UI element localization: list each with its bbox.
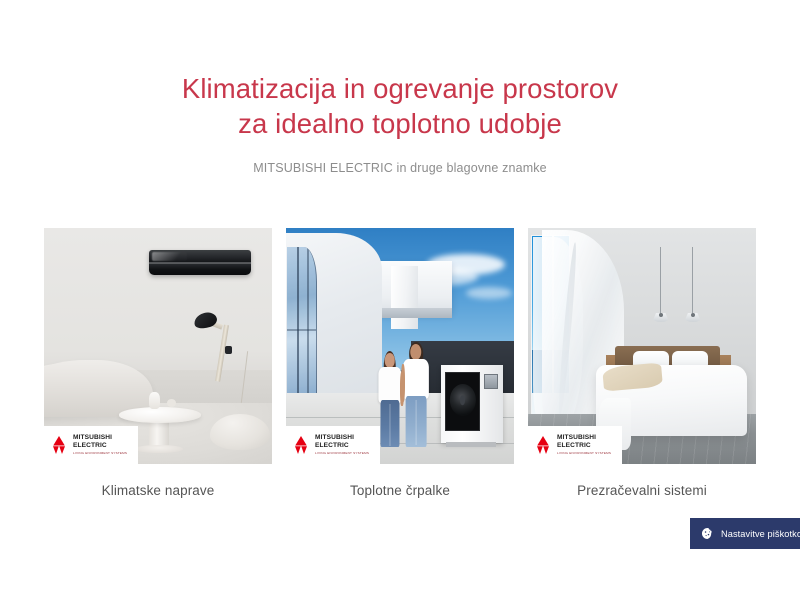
heat-pump-grille bbox=[445, 372, 481, 431]
brand-badge: MITSUBISHI ELECTRIC LIVING ENVIRONMENT S… bbox=[286, 426, 380, 464]
card-image-villa-heatpump[interactable]: MITSUBISHI ELECTRIC LIVING ENVIRONMENT S… bbox=[286, 228, 514, 464]
category-card-klimatske-naprave[interactable]: MITSUBISHI ELECTRIC LIVING ENVIRONMENT S… bbox=[44, 228, 272, 498]
glass-band bbox=[287, 329, 316, 331]
villa-chimney bbox=[391, 266, 418, 330]
pendant-bulb bbox=[691, 313, 695, 317]
mitsubishi-diamond-icon bbox=[532, 435, 554, 455]
brand-tagline: LIVING ENVIRONMENT SYSTEMS bbox=[557, 452, 611, 455]
pouf bbox=[210, 414, 269, 449]
card-caption[interactable]: Toplotne črpalke bbox=[286, 483, 514, 498]
cookie-settings-label: Nastavitve piškotkov bbox=[721, 529, 800, 539]
brand-name-line-2: ELECTRIC bbox=[73, 442, 127, 450]
category-card-prezracevalni-sistemi[interactable]: MITSUBISHI ELECTRIC LIVING ENVIRONMENT S… bbox=[528, 228, 756, 498]
card-image-living-room[interactable]: MITSUBISHI ELECTRIC LIVING ENVIRONMENT S… bbox=[44, 228, 272, 464]
brand-badge: MITSUBISHI ELECTRIC LIVING ENVIRONMENT S… bbox=[44, 426, 138, 464]
fan-hub bbox=[460, 396, 466, 406]
coffee-table bbox=[119, 407, 201, 422]
hero-header: Klimatizacija in ogrevanje prostorov za … bbox=[0, 0, 800, 175]
brand-text: MITSUBISHI ELECTRIC LIVING ENVIRONMENT S… bbox=[557, 434, 611, 455]
brand-name-line-1: MITSUBISHI bbox=[73, 434, 127, 442]
tshirt bbox=[403, 359, 429, 398]
cookie-settings-button[interactable]: Nastavitve piškotkov bbox=[690, 518, 800, 549]
jeans bbox=[380, 400, 399, 447]
shirt bbox=[378, 367, 401, 403]
person-man bbox=[402, 344, 429, 448]
brand-tagline: LIVING ENVIRONMENT SYSTEMS bbox=[315, 452, 369, 455]
brand-name-line-2: ELECTRIC bbox=[557, 442, 611, 450]
brand-tagline: LIVING ENVIRONMENT SYSTEMS bbox=[73, 452, 127, 455]
card-caption[interactable]: Klimatske naprave bbox=[44, 483, 272, 498]
mitsubishi-diamond-icon bbox=[48, 435, 70, 455]
mitsubishi-diamond-icon bbox=[290, 435, 312, 455]
cloud bbox=[466, 287, 512, 299]
head bbox=[384, 353, 395, 368]
page-title: Klimatizacija in ogrevanje prostorov za … bbox=[0, 72, 800, 141]
brand-name-line-1: MITSUBISHI bbox=[557, 434, 611, 442]
air-conditioner-unit bbox=[149, 250, 252, 275]
brand-text: MITSUBISHI ELECTRIC LIVING ENVIRONMENT S… bbox=[315, 434, 369, 455]
arm bbox=[401, 364, 405, 401]
jeans bbox=[406, 396, 427, 448]
page-title-line-1: Klimatizacija in ogrevanje prostorov bbox=[0, 72, 800, 107]
lamp-shade bbox=[193, 310, 219, 331]
brand-badge: MITSUBISHI ELECTRIC LIVING ENVIRONMENT S… bbox=[528, 426, 622, 464]
lamp-joint bbox=[225, 346, 232, 354]
pendant-lamp-left bbox=[660, 247, 661, 313]
cookie-icon bbox=[701, 527, 714, 540]
heat-pump-control-panel bbox=[484, 374, 498, 389]
heat-pump-base bbox=[446, 442, 496, 447]
heat-pump-unit bbox=[441, 365, 503, 443]
page-title-line-2: za idealno toplotno udobje bbox=[0, 107, 800, 142]
vase bbox=[149, 392, 160, 409]
heat-pump-fan bbox=[449, 384, 475, 416]
brand-name-line-1: MITSUBISHI bbox=[315, 434, 369, 442]
page-subtitle: MITSUBISHI ELECTRIC in druge blagovne zn… bbox=[0, 161, 800, 175]
brand-name-line-2: ELECTRIC bbox=[315, 442, 369, 450]
brand-text: MITSUBISHI ELECTRIC LIVING ENVIRONMENT S… bbox=[73, 434, 127, 455]
page-root: Klimatizacija in ogrevanje prostorov za … bbox=[0, 0, 800, 600]
person-woman bbox=[377, 353, 402, 447]
card-caption[interactable]: Prezračevalni sistemi bbox=[528, 483, 756, 498]
category-card-list: MITSUBISHI ELECTRIC LIVING ENVIRONMENT S… bbox=[44, 228, 756, 498]
pendant-bulb bbox=[659, 313, 663, 317]
villa-glass-facade bbox=[287, 247, 317, 405]
card-image-bedroom[interactable]: MITSUBISHI ELECTRIC LIVING ENVIRONMENT S… bbox=[528, 228, 756, 464]
category-card-toplotne-crpalke[interactable]: MITSUBISHI ELECTRIC LIVING ENVIRONMENT S… bbox=[286, 228, 514, 498]
pendant-lamp-right bbox=[692, 247, 693, 313]
